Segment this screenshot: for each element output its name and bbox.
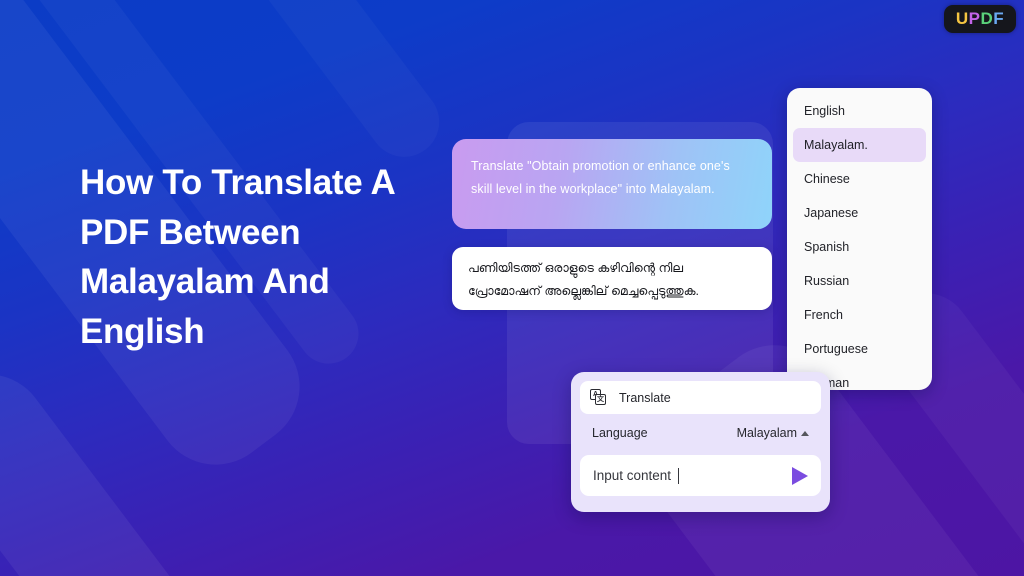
language-option-japanese[interactable]: Japanese — [793, 196, 926, 230]
input-content-placeholder: Input content — [593, 468, 671, 483]
language-option-russian[interactable]: Russian — [793, 264, 926, 298]
slide-canvas: UPDF How To Translate A PDF Between Mala… — [0, 0, 1024, 576]
result-line-1: പണിയിടത്ത് ഒരാളുടെ കഴിവിന്റെ നില — [468, 257, 756, 280]
input-content-row[interactable]: Input content — [580, 455, 821, 496]
language-option-chinese[interactable]: Chinese — [793, 162, 926, 196]
translation-result-card: പണിയിടത്ത് ഒരാളുടെ കഴിവിന്റെ നില പ്രോമോഷ… — [452, 247, 772, 310]
language-selector-value[interactable]: Malayalam — [737, 426, 809, 440]
language-option-spanish[interactable]: Spanish — [793, 230, 926, 264]
logo-letter-d: D — [980, 9, 993, 29]
logo-letter-f: F — [993, 9, 1004, 29]
logo-letter-u: U — [956, 9, 969, 29]
translate-tool-button[interactable]: A 文 Translate — [580, 381, 821, 414]
prompt-text: Translate "Obtain promotion or enhance o… — [471, 155, 753, 201]
translate-icon: A 文 — [590, 389, 607, 406]
caret-up-icon — [801, 431, 809, 436]
language-selector-label: Language — [592, 426, 648, 440]
decorative-streak — [217, 0, 453, 171]
language-option-malayalam[interactable]: Malayalam. — [793, 128, 926, 162]
page-title: How To Translate A PDF Between Malayalam… — [80, 158, 460, 357]
input-content-field[interactable]: Input content — [593, 468, 792, 484]
translate-panel: A 文 Translate Language Malayalam Input c… — [571, 372, 830, 512]
language-option-french[interactable]: French — [793, 298, 926, 332]
prompt-bubble: Translate "Obtain promotion or enhance o… — [452, 139, 772, 229]
send-arrow-icon[interactable] — [792, 467, 808, 485]
logo-letter-p: P — [969, 9, 981, 29]
language-selector-value-text: Malayalam — [737, 426, 797, 440]
text-cursor — [678, 468, 679, 484]
language-selector-row[interactable]: Language Malayalam — [580, 414, 821, 452]
language-option-portuguese[interactable]: Portuguese — [793, 332, 926, 366]
language-option-list: English Malayalam. Chinese Japanese Span… — [787, 88, 932, 390]
language-dropdown[interactable]: English Malayalam. Chinese Japanese Span… — [787, 88, 932, 390]
translate-tool-label: Translate — [619, 391, 671, 405]
decorative-streak — [0, 350, 336, 576]
result-line-2: പ്രോമോഷന് അല്ലെങ്കില് മെച്ചപ്പെടുത്തുക. — [468, 280, 756, 303]
language-option-english[interactable]: English — [793, 94, 926, 128]
updf-logo: UPDF — [944, 5, 1016, 33]
